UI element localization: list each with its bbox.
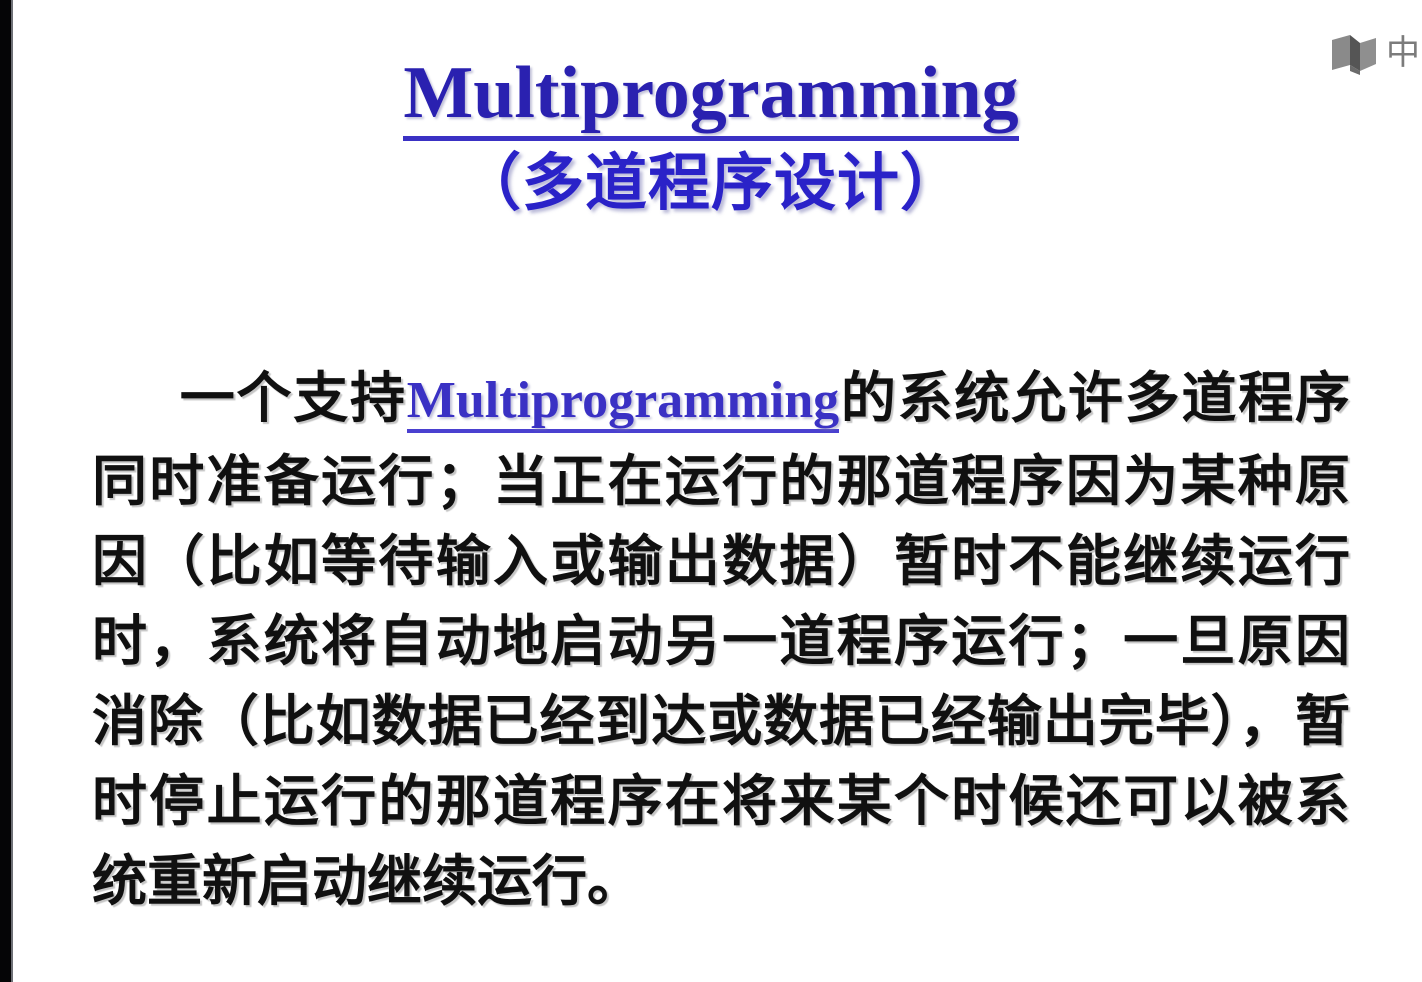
ime-language-bar[interactable]: 中 — [1330, 24, 1422, 82]
title-block: Multiprogramming （多道程序设计） — [0, 52, 1422, 221]
left-letterbox-bar — [0, 0, 11, 982]
inline-term-multiprogramming: Multiprogramming — [407, 372, 839, 433]
ime-book-icon[interactable] — [1330, 31, 1382, 75]
body-paragraph: 一个支持Multiprogramming的系统允许多道程序同时准备运行；当正在运… — [92, 358, 1350, 921]
body-segment-two: 的系统允许多道程序同时准备运行；当正在运行的那道程序因为某种原因（比如等待输入或… — [92, 366, 1350, 913]
slide-title-english-wrap: Multiprogramming — [0, 52, 1422, 141]
presentation-slide: 中 Multiprogramming （多道程序设计） 一个支持Multipro… — [0, 0, 1422, 982]
body-segment-one: 一个支持 — [178, 366, 407, 430]
slide-title-chinese: （多道程序设计） — [0, 145, 1422, 221]
ime-mode-character[interactable]: 中 — [1386, 36, 1420, 70]
left-letterbox-seam — [11, 0, 13, 982]
body-block: 一个支持Multiprogramming的系统允许多道程序同时准备运行；当正在运… — [92, 358, 1350, 921]
slide-title-english: Multiprogramming — [403, 52, 1018, 141]
